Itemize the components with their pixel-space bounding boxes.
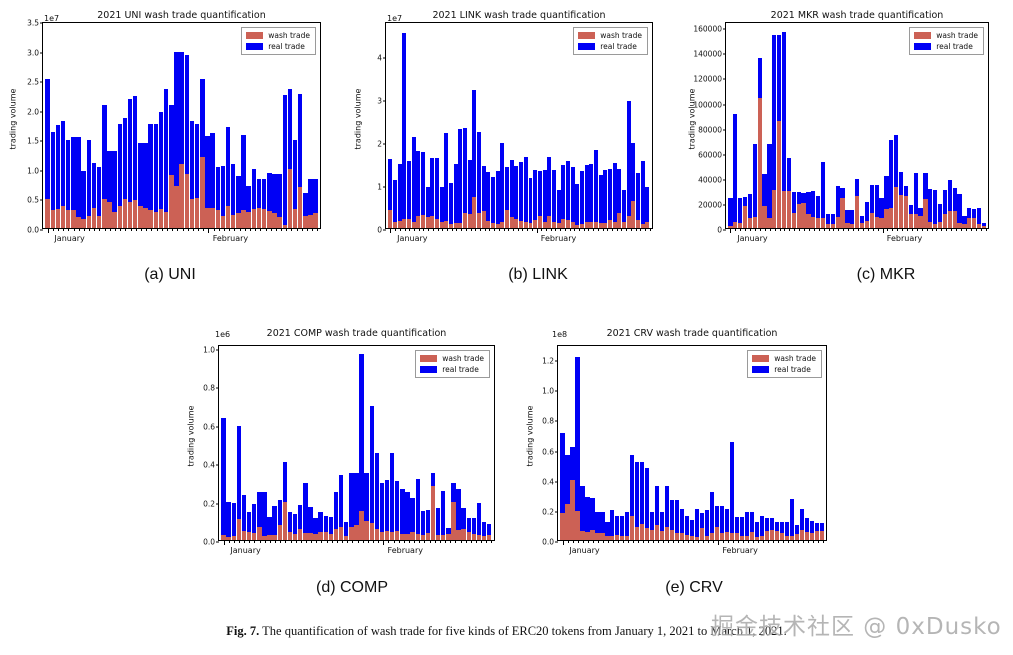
bar-segment-wash	[407, 219, 411, 228]
x-tick-mark	[658, 540, 659, 543]
x-tick-mark	[946, 228, 947, 231]
figure-container: 2021 UNI wash trade quantification1e7tra…	[0, 0, 1013, 655]
bar-segment-real	[625, 512, 629, 537]
bar-segment-wash	[308, 215, 312, 228]
bar-segment-wash	[560, 513, 564, 540]
x-tick-mark	[678, 540, 679, 543]
bar-segment-wash	[735, 533, 739, 540]
bar	[148, 23, 152, 228]
bar	[580, 346, 584, 540]
bar-segment-wash	[339, 527, 343, 540]
bar-segment-real	[800, 509, 804, 529]
bar-segment-wash	[118, 206, 122, 228]
x-tick-mark	[638, 540, 639, 543]
x-tick-mark	[494, 228, 495, 231]
bar	[472, 23, 476, 228]
bar-segment-wash	[514, 219, 518, 228]
bar-segment-real	[820, 523, 824, 531]
bar-segment-real	[431, 473, 435, 485]
bar-segment-real	[143, 143, 147, 207]
bar-segment-real	[524, 157, 528, 222]
bar-segment-wash	[435, 219, 439, 228]
y-axis-label-uni: trading volume	[9, 99, 18, 149]
bar-segment-real	[92, 163, 96, 208]
bar	[412, 23, 416, 228]
bar	[640, 346, 644, 540]
x-tick-mark	[936, 228, 937, 231]
legend-item-real-trade[interactable]: real trade	[420, 365, 484, 374]
x-tick-mark	[423, 228, 424, 231]
bar-segment-real	[446, 528, 450, 535]
bar-segment-real	[467, 518, 471, 532]
bar-segment-wash	[364, 521, 368, 540]
bar-segment-real	[787, 158, 791, 190]
bar	[237, 346, 241, 540]
bar	[407, 23, 411, 228]
bar-segment-real	[226, 127, 230, 207]
bar-segment-real	[865, 202, 869, 221]
bar-segment-wash	[816, 218, 820, 228]
x-tick-mark	[442, 228, 443, 231]
x-tick-mark	[598, 228, 599, 231]
bar-segment-wash	[385, 531, 389, 541]
x-major-tick-mark-0	[563, 540, 564, 545]
x-tick-mark	[229, 540, 230, 543]
x-tick-mark	[560, 228, 561, 231]
legend-item-wash-trade[interactable]: wash trade	[914, 31, 978, 40]
x-tick-mark	[414, 228, 415, 231]
x-tick-mark	[843, 228, 844, 231]
x-tick-mark	[813, 540, 814, 543]
x-tick-mark	[778, 540, 779, 543]
figure-caption-prefix: Fig. 7.	[226, 624, 259, 638]
bar	[102, 23, 106, 228]
x-tick-mark	[105, 228, 106, 231]
bar-segment-real	[675, 500, 679, 533]
bar-segment-real	[613, 163, 617, 222]
bar-segment-real	[767, 144, 771, 218]
bar-segment-real	[870, 185, 874, 213]
bar-segment-wash	[71, 210, 75, 228]
x-tick-mark	[291, 540, 292, 543]
bar	[128, 23, 132, 228]
bar	[836, 23, 840, 228]
x-tick-mark	[291, 228, 292, 231]
bar-segment-real	[660, 512, 664, 531]
bar-segment-real	[967, 208, 971, 218]
bar-segment-real	[875, 185, 879, 217]
bar	[303, 346, 307, 540]
bar	[645, 346, 649, 540]
bar-segment-wash	[154, 212, 158, 228]
x-tick-mark	[819, 228, 820, 231]
x-tick-mark	[784, 228, 785, 231]
x-tick-mark	[317, 228, 318, 231]
bar	[395, 346, 399, 540]
bar-segment-wash	[748, 218, 752, 228]
bar-segment-real	[412, 137, 416, 221]
x-tick-mark	[570, 228, 571, 231]
bar-segment-wash	[81, 219, 85, 228]
bar	[715, 346, 719, 540]
bar	[670, 346, 674, 540]
bar	[45, 23, 49, 228]
x-tick-mark	[120, 228, 121, 231]
bar-segment-wash	[580, 531, 584, 540]
y-tick-label-mkr-1: 20000	[698, 200, 726, 209]
bar-segment-real	[760, 516, 764, 536]
bar-segment-real	[748, 194, 752, 218]
x-tick-mark	[833, 228, 834, 231]
x-tick-mark	[368, 540, 369, 543]
legend-uni: wash tradereal trade	[241, 27, 316, 55]
bar	[398, 23, 402, 228]
bar-segment-real	[468, 160, 472, 214]
bar-segment-wash	[972, 218, 976, 228]
bar-segment-real	[293, 514, 297, 534]
bar-segment-real	[806, 192, 810, 214]
bar-segment-real	[777, 35, 781, 121]
x-tick-mark	[447, 228, 448, 231]
bar-segment-real	[972, 209, 976, 218]
legend-item-real-trade[interactable]: real trade	[752, 365, 816, 374]
bar-segment-wash	[600, 533, 604, 540]
x-tick-mark	[302, 228, 303, 231]
x-tick-mark	[743, 540, 744, 543]
bar	[500, 23, 504, 228]
bar	[600, 346, 604, 540]
legend-item-wash-trade[interactable]: wash trade	[420, 354, 484, 363]
bar-segment-wash	[267, 211, 271, 228]
y-tick-mark-uni-0	[40, 230, 43, 231]
x-axis-label-comp-1: February	[388, 546, 423, 555]
bar	[76, 23, 80, 228]
bar-segment-real	[262, 492, 266, 536]
bar-segment-wash	[246, 212, 250, 228]
bar-segment-wash	[811, 217, 815, 228]
bar	[454, 23, 458, 228]
legend-crv: wash tradereal trade	[747, 350, 822, 378]
legend-item-real-trade[interactable]: real trade	[246, 42, 310, 51]
chart-title-link: 2021 LINK wash trade quantification	[385, 10, 653, 21]
bar-segment-real	[416, 479, 420, 534]
bar-segment-real	[61, 121, 65, 205]
x-tick-mark	[698, 540, 699, 543]
bar-segment-real	[580, 171, 584, 224]
x-tick-mark	[522, 228, 523, 231]
x-tick-mark	[481, 540, 482, 543]
bar-segment-wash	[899, 195, 903, 228]
bar-segment-real	[324, 516, 328, 532]
bar-segment-real	[575, 184, 579, 225]
bar-segment-real	[855, 179, 859, 196]
x-tick-mark	[758, 540, 759, 543]
x-tick-mark	[799, 228, 800, 231]
bar	[221, 23, 225, 228]
bar-segment-real	[179, 52, 183, 163]
x-tick-mark	[932, 228, 933, 231]
bar-segment-real	[221, 418, 225, 535]
bar-segment-real	[914, 173, 918, 213]
x-tick-mark	[461, 540, 462, 543]
bar	[889, 23, 893, 228]
bar	[133, 23, 137, 228]
bar-segment-real	[700, 513, 704, 528]
x-tick-mark	[578, 540, 579, 543]
bar-segment-wash	[205, 208, 209, 228]
bar-segment-wash	[710, 533, 714, 540]
bar-segment-real	[267, 517, 271, 535]
x-tick-mark	[765, 228, 766, 231]
bar-segment-real	[288, 89, 292, 170]
x-tick-mark	[633, 540, 634, 543]
bar-segment-real	[237, 426, 241, 519]
bar	[344, 346, 348, 540]
bar-segment-wash	[797, 204, 801, 228]
chart-title-uni: 2021 UNI wash trade quantification	[42, 10, 321, 21]
bar-segment-wash	[953, 211, 957, 228]
legend-label-wash: wash trade	[442, 354, 484, 363]
bar-segment-wash	[767, 218, 771, 228]
x-tick-mark	[618, 540, 619, 543]
x-tick-mark	[853, 228, 854, 231]
y-tick-mark-crv-0	[555, 542, 558, 543]
x-tick-mark	[188, 228, 189, 231]
bar	[806, 23, 810, 228]
bar	[685, 346, 689, 540]
bar-segment-wash	[533, 220, 537, 228]
bar-segment-real	[599, 175, 603, 223]
x-tick-mark	[794, 228, 795, 231]
bar	[720, 346, 724, 540]
bar	[875, 23, 879, 228]
subcaption-link: (b) LINK	[508, 266, 568, 284]
legend-item-wash-trade[interactable]: wash trade	[578, 31, 642, 40]
x-tick-mark	[285, 540, 286, 543]
x-tick-mark	[435, 540, 436, 543]
bar	[221, 346, 225, 540]
bar	[831, 23, 835, 228]
bar-segment-real	[645, 468, 649, 528]
bar	[440, 23, 444, 228]
x-tick-mark	[775, 228, 776, 231]
bar-segment-wash	[730, 533, 734, 540]
bar	[242, 346, 246, 540]
bar-segment-wash	[123, 199, 127, 228]
bar-segment-real	[395, 481, 399, 531]
x-tick-mark	[266, 228, 267, 231]
x-tick-mark	[162, 228, 163, 231]
legend-item-wash-trade[interactable]: wash trade	[246, 31, 310, 40]
x-tick-mark	[738, 540, 739, 543]
x-tick-mark	[260, 540, 261, 543]
x-tick-mark	[703, 540, 704, 543]
x-tick-mark	[961, 228, 962, 231]
x-tick-mark	[873, 228, 874, 231]
x-major-tick-mark-1	[718, 540, 719, 545]
bar	[792, 23, 796, 228]
x-tick-mark	[433, 228, 434, 231]
bar	[660, 346, 664, 540]
x-tick-mark	[281, 228, 282, 231]
bar-segment-wash	[660, 531, 664, 540]
y-tick-label-mkr-4: 80000	[698, 125, 726, 134]
bar-segment-real	[329, 517, 333, 534]
x-tick-mark	[768, 540, 769, 543]
bar-segment-wash	[510, 217, 514, 228]
x-tick-mark	[598, 540, 599, 543]
x-tick-mark	[593, 540, 594, 543]
bar-segment-wash	[914, 214, 918, 228]
x-tick-mark	[532, 228, 533, 231]
bar	[675, 346, 679, 540]
bar-segment-wash	[51, 210, 55, 228]
x-tick-mark	[804, 228, 805, 231]
chart-title-comp: 2021 COMP wash trade quantification	[218, 328, 495, 339]
x-tick-mark	[254, 540, 255, 543]
bar	[390, 346, 394, 540]
bar-segment-real	[631, 143, 635, 201]
legend-item-real-trade[interactable]: real trade	[578, 42, 642, 51]
x-tick-mark	[131, 228, 132, 231]
bar	[899, 23, 903, 228]
x-tick-mark	[628, 540, 629, 543]
bar-segment-wash	[257, 208, 261, 228]
x-tick-mark	[485, 228, 486, 231]
bar-segment-wash	[665, 527, 669, 540]
x-tick-mark	[823, 540, 824, 543]
bar	[753, 23, 757, 228]
x-tick-mark	[728, 540, 729, 543]
bar-segment-real	[836, 186, 840, 216]
bar-segment-wash	[236, 213, 240, 228]
bar-segment-wash	[45, 199, 49, 228]
x-tick-mark	[976, 228, 977, 231]
x-tick-mark	[337, 540, 338, 543]
bar	[590, 346, 594, 540]
bar	[519, 23, 523, 228]
bar	[416, 23, 420, 228]
bar-segment-wash	[148, 210, 152, 228]
bar	[370, 346, 374, 540]
bar-segment-real	[547, 157, 551, 217]
x-tick-mark	[588, 228, 589, 231]
y-axis-label-comp: trading volume	[187, 417, 196, 467]
bar-segment-real	[740, 517, 744, 536]
x-tick-mark	[260, 228, 261, 231]
bar	[595, 346, 599, 540]
bar	[529, 23, 533, 228]
bar-segment-wash	[237, 519, 241, 540]
bar-segment-real	[957, 194, 961, 223]
x-tick-mark	[110, 228, 111, 231]
bar	[87, 23, 91, 228]
x-tick-mark	[63, 228, 64, 231]
bar-segment-real	[670, 500, 674, 529]
x-tick-mark	[527, 228, 528, 231]
legend-swatch-wash-icon	[420, 355, 437, 362]
bar	[410, 346, 414, 540]
bar	[695, 346, 699, 540]
bar-segment-real	[262, 179, 266, 208]
bar	[71, 23, 75, 228]
legend-label-real: real trade	[936, 42, 973, 51]
bar	[107, 23, 111, 228]
chart-panel-uni: 2021 UNI wash trade quantification1e7tra…	[0, 10, 331, 277]
bar	[380, 346, 384, 540]
bar-segment-real	[66, 140, 70, 211]
x-axis-label-crv-1: February	[722, 546, 757, 555]
x-tick-mark	[688, 540, 689, 543]
bar	[393, 23, 397, 228]
bar-segment-real	[491, 177, 495, 223]
bar	[710, 346, 714, 540]
bar-segment-real	[283, 462, 287, 502]
bar	[267, 346, 271, 540]
bar-segment-wash	[349, 527, 353, 540]
x-axis-label-link-1: February	[541, 234, 576, 243]
bar-segment-real	[728, 198, 732, 225]
x-tick-mark	[788, 540, 789, 543]
x-tick-mark	[79, 228, 80, 231]
legend-item-real-trade[interactable]: real trade	[914, 42, 978, 51]
bar-segment-wash	[252, 533, 256, 540]
bar-segment-wash	[318, 532, 322, 540]
x-tick-mark	[229, 228, 230, 231]
bar-segment-real	[407, 161, 411, 219]
x-tick-mark	[748, 540, 749, 543]
bar-segment-wash	[806, 214, 810, 228]
x-tick-mark	[399, 540, 400, 543]
bar-segment-wash	[164, 212, 168, 228]
bar-segment-wash	[482, 211, 486, 228]
legend-item-wash-trade[interactable]: wash trade	[752, 354, 816, 363]
bar-segment-real	[210, 133, 214, 207]
bar	[615, 346, 619, 540]
legend-swatch-real-icon	[914, 43, 931, 50]
x-axis-label-comp-0: January	[230, 546, 260, 555]
bar-segment-real	[272, 506, 276, 535]
bar-segment-wash	[923, 199, 927, 228]
bar	[738, 23, 742, 228]
legend-label-wash: wash trade	[268, 31, 310, 40]
bar-segment-wash	[298, 187, 302, 228]
bar	[826, 23, 830, 228]
bar-segment-real	[154, 124, 158, 212]
bar	[313, 346, 317, 540]
bar-segment-real	[695, 509, 699, 537]
bar-segment-real	[785, 522, 789, 535]
bar-segment-wash	[390, 532, 394, 540]
bar	[565, 346, 569, 540]
bar-segment-real	[782, 32, 786, 190]
bar-segment-wash	[879, 218, 883, 228]
bar-segment-wash	[815, 531, 819, 540]
x-tick-mark	[668, 540, 669, 543]
bar	[510, 23, 514, 228]
x-tick-mark	[733, 540, 734, 543]
bar-segment-wash	[675, 533, 679, 540]
bar-segment-real	[298, 505, 302, 529]
x-tick-mark	[971, 228, 972, 231]
chart-title-mkr: 2021 MKR wash trade quantification	[725, 10, 989, 21]
bar-segment-wash	[467, 532, 471, 540]
bar-segment-real	[477, 503, 481, 535]
bar-segment-real	[610, 510, 614, 535]
x-tick-mark	[452, 228, 453, 231]
x-tick-mark	[183, 228, 184, 231]
bar-segment-real	[486, 172, 490, 221]
